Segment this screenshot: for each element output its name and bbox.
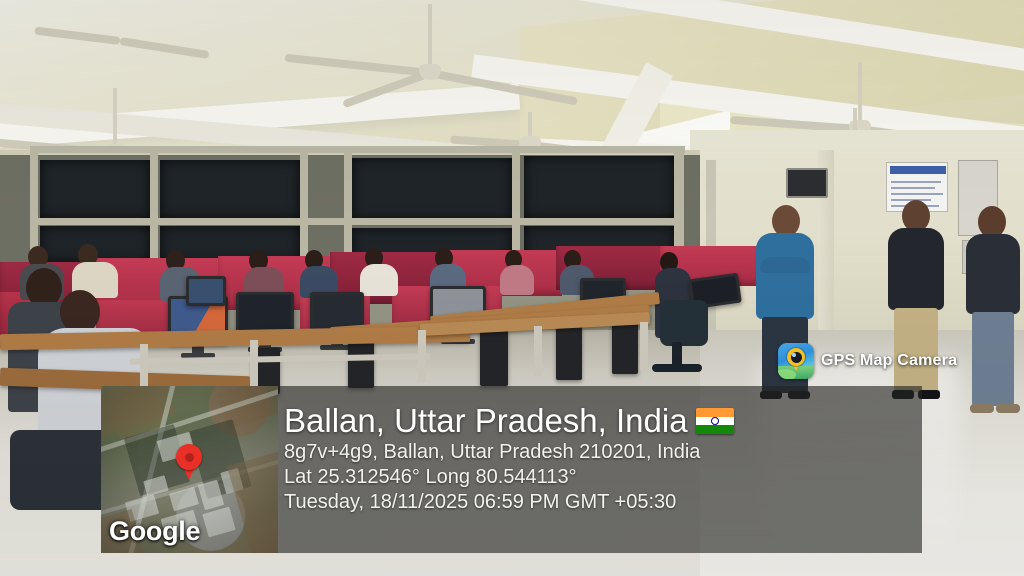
gps-camera-lens-icon — [778, 343, 814, 379]
location-title-row: Ballan, Uttar Pradesh, India — [284, 402, 910, 440]
office-chair — [660, 300, 708, 346]
gps-map-camera-watermark: GPS Map Camera — [778, 343, 957, 379]
desk-leg — [534, 326, 542, 376]
gps-app-name: GPS Map Camera — [821, 352, 957, 370]
stamp-text-block: Ballan, Uttar Pradesh, India 8g7v+4g9, B… — [278, 386, 922, 553]
window-glass — [352, 158, 512, 220]
cpu-tower — [612, 322, 638, 374]
map-thumbnail[interactable]: Google — [101, 386, 278, 553]
cpu-tower — [348, 340, 374, 388]
wall-mounted-monitor — [786, 168, 828, 198]
cpu-tower — [480, 330, 508, 386]
coordinates-line: Lat 25.312546° Long 80.544113° — [284, 465, 910, 490]
monitor — [186, 276, 226, 306]
datetime-line: Tuesday, 18/11/2025 06:59 PM GMT +05:30 — [284, 490, 910, 515]
address-line: 8g7v+4g9, Ballan, Uttar Pradesh 210201, … — [284, 440, 910, 465]
window-glass — [524, 156, 674, 218]
location-title: Ballan, Uttar Pradesh, India — [284, 402, 688, 440]
window-frame — [30, 146, 685, 153]
desk-leg — [640, 322, 648, 370]
google-watermark: Google — [109, 516, 200, 547]
chair-base — [652, 364, 702, 372]
window-glass — [40, 160, 150, 218]
india-flag-icon — [696, 408, 734, 434]
gps-stamp-panel: Google Ballan, Uttar Pradesh, India 8g7v… — [101, 386, 922, 553]
window-frame — [30, 218, 680, 225]
cpu-tower — [556, 326, 582, 380]
screenshot-root: GPS Map Camera — [0, 0, 1024, 576]
window-glass — [160, 160, 300, 218]
map-pin-icon — [176, 444, 202, 480]
